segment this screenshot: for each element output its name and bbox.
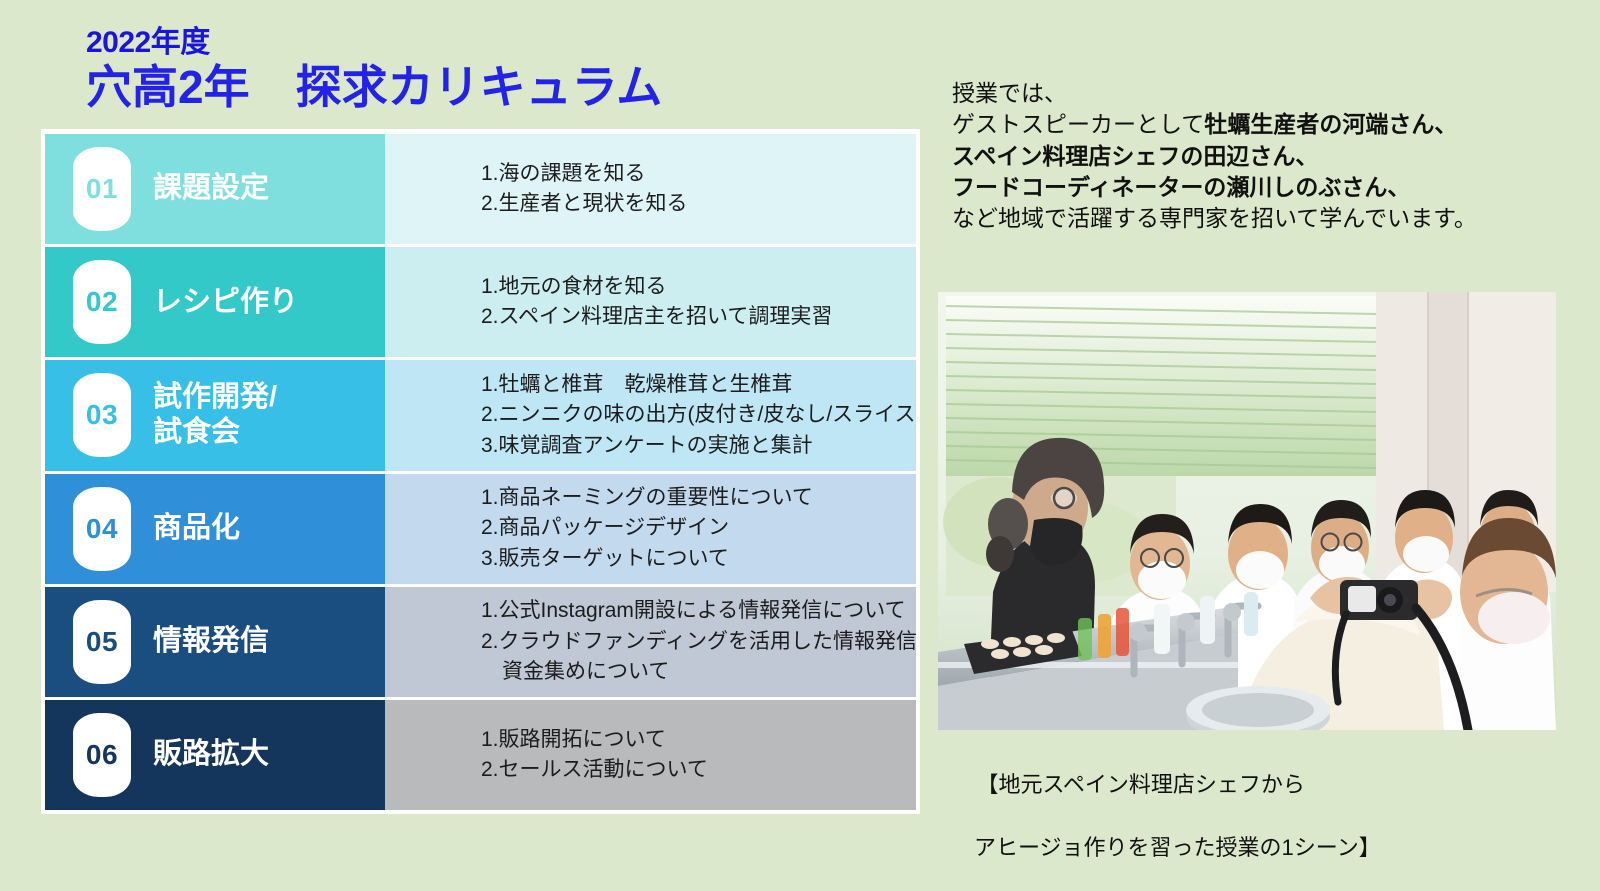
step-number-badge: 03	[73, 373, 131, 457]
step-number: 05	[86, 626, 118, 658]
step-chevron: 01課題設定	[45, 134, 385, 244]
step-title: 商品化	[153, 511, 240, 546]
step-row[interactable]: 06販路拡大1.販路開拓について2.セールス活動について	[45, 700, 916, 810]
step-row[interactable]: 05情報発信1.公式Instagram開設による情報発信について2.クラウドファ…	[45, 587, 916, 697]
intro-line-1-text: 授業では、	[952, 80, 1067, 106]
step-detail-item: 1.公式Instagram開設による情報発信について	[481, 596, 912, 626]
step-details-panel: 1.商品ネーミングの重要性について2.商品パッケージデザイン3.販売ターゲットに…	[385, 474, 916, 584]
step-chevron: 06販路拡大	[45, 700, 385, 810]
step-title: 課題設定	[153, 171, 269, 206]
step-detail-item: 2.クラウドファンディングを活用した情報発信と	[481, 627, 912, 657]
step-detail-item: 1.地元の食材を知る	[481, 272, 912, 302]
photo-caption: 【地元スペイン料理店シェフから アヒージョ作りを習った授業の1シーン】	[952, 738, 1381, 891]
intro-line-2-bold: 牡蠣生産者の河端さん、	[1204, 111, 1457, 137]
step-number-badge: 05	[73, 600, 131, 684]
step-title: 販路拡大	[153, 737, 269, 772]
step-title: レシピ作り	[153, 285, 298, 320]
step-details-panel: 1.販路開拓について2.セールス活動について	[385, 700, 916, 810]
step-row[interactable]: 02レシピ作り1.地元の食材を知る2.スペイン料理店主を招いて調理実習	[45, 247, 916, 357]
intro-paragraph: 授業では、 ゲストスピーカーとして牡蠣生産者の河端さん、 スペイン料理店シェフの…	[952, 78, 1572, 234]
page-title: 2022年度 穴高2年 探求カリキュラム	[86, 26, 662, 114]
step-number-badge: 04	[73, 487, 131, 571]
step-chevron: 03試作開発/ 試食会	[45, 360, 385, 470]
right-column: 授業では、 ゲストスピーカーとして牡蠣生産者の河端さん、 スペイン料理店シェフの…	[938, 0, 1578, 891]
step-detail-item: 資金集めについて	[481, 657, 912, 687]
caption-line-1: 【地元スペイン料理店シェフから	[976, 772, 1304, 797]
intro-line-3-bold: スペイン料理店シェフの田辺さん、	[952, 143, 1318, 169]
step-chevron: 05情報発信	[45, 587, 385, 697]
step-row[interactable]: 04商品化1.商品ネーミングの重要性について2.商品パッケージデザイン3.販売タ…	[45, 474, 916, 584]
intro-line-4-bold: フードコーディネーターの瀬川しのぶさん、	[952, 174, 1410, 200]
intro-line-3: スペイン料理店シェフの田辺さん、	[952, 141, 1572, 172]
classroom-cooking-photo	[938, 292, 1556, 730]
step-details-panel: 1.地元の食材を知る2.スペイン料理店主を招いて調理実習	[385, 247, 916, 357]
step-row[interactable]: 03試作開発/ 試食会1.牡蠣と椎茸 乾燥椎茸と生椎茸2.ニンニクの味の出方(皮…	[45, 360, 916, 470]
step-details-panel: 1.牡蠣と椎茸 乾燥椎茸と生椎茸2.ニンニクの味の出方(皮付き/皮なし/スライス…	[385, 360, 916, 470]
intro-line-5: など地域で活躍する専門家を招いて学んでいます。	[952, 203, 1572, 234]
step-detail-item: 2.スペイン料理店主を招いて調理実習	[481, 302, 912, 332]
intro-line-1: 授業では、	[952, 78, 1572, 109]
intro-line-5-text: など地域で活躍する専門家を招いて学んでいます。	[952, 205, 1477, 231]
step-detail-item: 3.味覚調査アンケートの実施と集計	[481, 431, 912, 461]
step-detail-item: 1.商品ネーミングの重要性について	[481, 483, 912, 513]
step-chevron: 04商品化	[45, 474, 385, 584]
title-year: 2022年度	[86, 26, 662, 59]
step-details-panel: 1.公式Instagram開設による情報発信について2.クラウドファンディングを…	[385, 587, 916, 697]
intro-line-4: フードコーディネーターの瀬川しのぶさん、	[952, 172, 1572, 203]
step-detail-item: 2.生産者と現状を知る	[481, 189, 912, 219]
step-title: 情報発信	[153, 624, 269, 659]
step-detail-item: 1.牡蠣と椎茸 乾燥椎茸と生椎茸	[481, 370, 912, 400]
intro-line-2-plain: ゲストスピーカーとして	[952, 111, 1204, 137]
step-detail-item: 1.販路開拓について	[481, 725, 912, 755]
step-detail-item: 1.海の課題を知る	[481, 159, 912, 189]
step-number: 03	[86, 399, 118, 431]
intro-line-2: ゲストスピーカーとして牡蠣生産者の河端さん、	[952, 109, 1572, 140]
step-number-badge: 06	[73, 713, 131, 797]
title-main: 穴高2年 探求カリキュラム	[86, 61, 662, 114]
step-detail-item: 2.セールス活動について	[481, 755, 912, 785]
step-row[interactable]: 01課題設定1.海の課題を知る2.生産者と現状を知る	[45, 134, 916, 244]
step-detail-item: 2.ニンニクの味の出方(皮付き/皮なし/スライス)	[481, 400, 912, 430]
step-detail-item: 2.商品パッケージデザイン	[481, 513, 912, 543]
step-number-badge: 02	[73, 260, 131, 344]
curriculum-diagram: 01課題設定1.海の課題を知る2.生産者と現状を知る02レシピ作り1.地元の食材…	[41, 129, 920, 814]
step-number: 04	[86, 513, 118, 545]
step-number: 06	[86, 739, 118, 771]
step-number-badge: 01	[73, 147, 131, 231]
caption-line-2: アヒージョ作りを習った授業の1シーン】	[952, 832, 1381, 863]
step-details-panel: 1.海の課題を知る2.生産者と現状を知る	[385, 134, 916, 244]
step-title: 試作開発/ 試食会	[153, 380, 277, 451]
step-chevron: 02レシピ作り	[45, 247, 385, 357]
step-detail-item: 3.販売ターゲットについて	[481, 544, 912, 574]
step-number: 02	[86, 286, 118, 318]
step-number: 01	[86, 173, 118, 205]
